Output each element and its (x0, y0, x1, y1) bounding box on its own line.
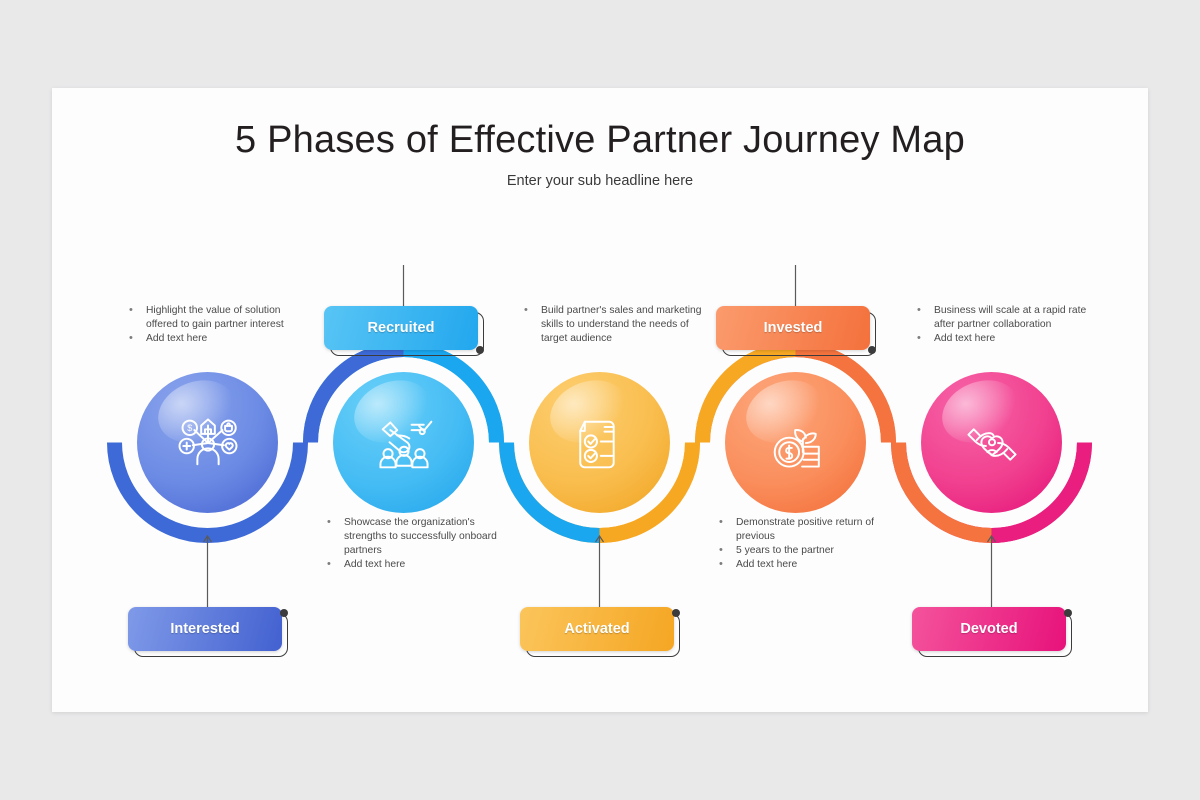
svg-text:$: $ (187, 423, 192, 433)
phase-circle-interested[interactable]: $ (137, 372, 278, 513)
pill-body: Devoted (912, 607, 1066, 651)
phase-circle-recruited[interactable] (333, 372, 474, 513)
pill-body: Invested (716, 306, 870, 350)
bullet-list: Demonstrate positive return of previous … (712, 516, 902, 572)
slide-canvas: 5 Phases of Effective Partner Journey Ma… (52, 88, 1148, 712)
pill-body: Recruited (324, 306, 478, 350)
list-item: Add text here (712, 558, 902, 572)
phase-label-devoted[interactable]: Devoted (912, 607, 1072, 657)
list-item: Business will scale at a rapid rate afte… (910, 304, 1100, 332)
list-item: Demonstrate positive return of previous (712, 516, 902, 544)
phase-label-activated[interactable]: Activated (520, 607, 680, 657)
phase-label-invested[interactable]: Invested (716, 306, 876, 356)
list-item: 5 years to the partner (712, 544, 902, 558)
pill-label: Activated (564, 621, 629, 637)
hand-select-people-icon (366, 405, 442, 481)
bullet-list: Build partner's sales and marketing skil… (517, 304, 707, 346)
pill-connector-dot (280, 609, 288, 617)
bullet-list: Highlight the value of solution offered … (122, 304, 312, 346)
list-item: Add text here (320, 558, 510, 572)
hands-heart-care-icon (954, 405, 1030, 481)
phase-text-devoted: Business will scale at a rapid rate afte… (910, 304, 1100, 346)
bullet-list: Showcase the organization's strengths to… (320, 516, 510, 572)
pill-label: Invested (764, 320, 823, 336)
pill-label: Recruited (368, 320, 435, 336)
infographic-stage: 5 Phases of Effective Partner Journey Ma… (52, 88, 1148, 712)
phase-circle-invested[interactable] (725, 372, 866, 513)
pill-connector-dot (1064, 609, 1072, 617)
money-plant-growth-icon (758, 405, 834, 481)
phase-label-interested[interactable]: Interested (128, 607, 288, 657)
list-item: Add text here (122, 332, 312, 346)
pill-connector-dot (672, 609, 680, 617)
bullet-list: Business will scale at a rapid rate afte… (910, 304, 1100, 346)
list-item: Showcase the organization's strengths to… (320, 516, 510, 558)
community-network-icon: $ (170, 405, 246, 481)
phase-label-recruited[interactable]: Recruited (324, 306, 484, 356)
phase-text-recruited: Showcase the organization's strengths to… (320, 516, 510, 572)
list-item: Highlight the value of solution offered … (122, 304, 312, 332)
pill-label: Devoted (960, 621, 1017, 637)
phase-text-activated: Build partner's sales and marketing skil… (517, 304, 707, 346)
phase-circle-devoted[interactable] (921, 372, 1062, 513)
phase-text-interested: Highlight the value of solution offered … (122, 304, 312, 346)
pill-body: Activated (520, 607, 674, 651)
phase-circle-activated[interactable] (529, 372, 670, 513)
list-item: Add text here (910, 332, 1100, 346)
pill-connector-dot (868, 346, 876, 354)
pill-label: Interested (170, 621, 239, 637)
phase-text-invested: Demonstrate positive return of previous … (712, 516, 902, 572)
pill-body: Interested (128, 607, 282, 651)
checklist-document-icon (562, 405, 638, 481)
list-item: Build partner's sales and marketing skil… (517, 304, 707, 346)
pill-connector-dot (476, 346, 484, 354)
